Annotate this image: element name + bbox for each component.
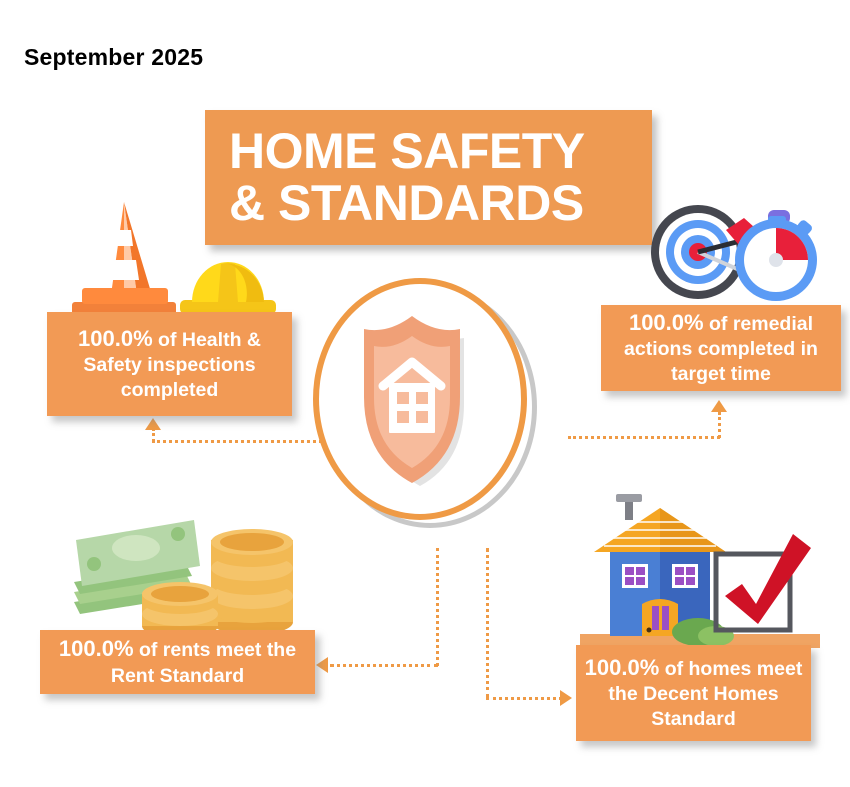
traffic-cone-icon: [72, 202, 176, 315]
shield-house-emblem: [313, 278, 543, 536]
house-icon: [594, 494, 734, 646]
callout-health-safety-inspections[interactable]: 100.0% of Health & Safety inspections co…: [47, 312, 292, 416]
date-label: September 2025: [24, 44, 203, 71]
checkbox-tick-icon: [716, 534, 811, 630]
hard-hat-icon: [180, 262, 276, 314]
callout-percent: 100.0%: [59, 636, 134, 661]
callout-text: of rents meet the Rent Standard: [111, 639, 296, 686]
callout-percent: 100.0%: [585, 655, 660, 680]
title-line-1: HOME SAFETY: [229, 126, 585, 178]
target-stopwatch-icon: [640, 200, 835, 310]
money-coins-icon: [68, 518, 298, 638]
infographic-canvas: September 2025 HOME SAFETY & STANDARDS: [0, 0, 850, 787]
traffic-cone-hard-hat-icon: [58, 196, 288, 316]
callout-rent-standard[interactable]: 100.0% of rents meet the Rent Standard: [40, 630, 315, 694]
callout-remedial-actions[interactable]: 100.0% of remedial actions completed in …: [601, 305, 841, 391]
shield-icon: [313, 278, 527, 520]
callout-percent: 100.0%: [78, 326, 153, 351]
house-checkmark-icon: [580, 492, 820, 652]
callout-decent-homes-standard[interactable]: 100.0% of homes meet the Decent Homes St…: [576, 645, 811, 741]
callout-percent: 100.0%: [629, 310, 704, 335]
